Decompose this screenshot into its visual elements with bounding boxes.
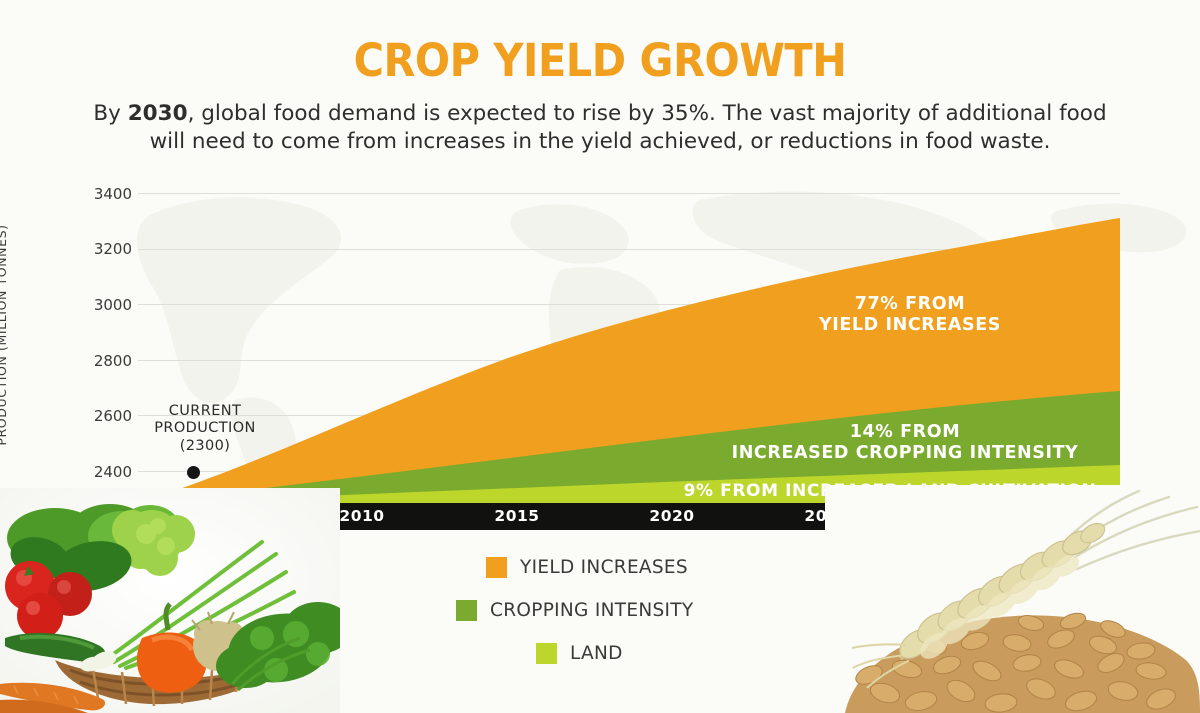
band-label-yield-line1: 77% FROM: [700, 294, 1120, 315]
legend-swatch-cropping-intensity: [456, 600, 477, 621]
y-axis-title: PRODUCTION (MILLION TONNES): [0, 0, 9, 185]
legend-label-cropping-intensity: CROPPING INTENSITY: [490, 600, 693, 621]
band-label-yield-line2: YIELD INCREASES: [700, 315, 1120, 336]
y-tick-3000: 3000: [72, 296, 132, 314]
annotation-line-1: CURRENT: [140, 403, 270, 420]
band-label-cropping-line1: 14% FROM: [690, 422, 1120, 443]
y-tick-2800: 2800: [72, 352, 132, 370]
band-label-land-line1: 9% FROM INCREASED LAND CULTIVATION: [660, 481, 1120, 501]
legend-swatch-land: [536, 643, 557, 664]
x-axis-bar: 2005 2010 2015 2020 2025 2030: [130, 503, 1120, 530]
current-production-annotation: CURRENT PRODUCTION (2300): [140, 403, 270, 455]
y-tick-3200: 3200: [72, 240, 132, 258]
y-tick-2600: 2600: [72, 407, 132, 425]
x-tick-2005: 2005: [167, 507, 247, 525]
legend-label-yield-increases: YIELD INCREASES: [520, 557, 688, 578]
band-label-cropping-line2: INCREASED CROPPING INTENSITY: [690, 443, 1120, 464]
annotation-line-3: (2300): [140, 438, 270, 455]
band-label-yield: 77% FROM YIELD INCREASES: [700, 294, 1120, 336]
legend-label-land: LAND: [570, 643, 623, 664]
legend-swatch-yield-increases: [486, 557, 507, 578]
x-tick-2015: 2015: [477, 507, 557, 525]
current-production-marker-dot: [187, 466, 200, 479]
x-tick-2030: 2030: [942, 507, 1022, 525]
y-tick-2400: 2400: [72, 463, 132, 481]
legend: YIELD INCREASES CROPPING INTENSITY LAND: [430, 556, 780, 685]
y-tick-3400: 3400: [72, 185, 132, 203]
legend-item-land[interactable]: LAND: [536, 642, 780, 664]
legend-item-cropping-intensity[interactable]: CROPPING INTENSITY: [456, 599, 780, 621]
x-tick-2020: 2020: [632, 507, 712, 525]
annotation-line-2: PRODUCTION: [140, 420, 270, 437]
x-tick-2025: 2025: [787, 507, 867, 525]
band-label-cropping: 14% FROM INCREASED CROPPING INTENSITY: [690, 422, 1120, 464]
band-label-land: 9% FROM INCREASED LAND CULTIVATION: [660, 481, 1120, 501]
legend-item-yield-increases[interactable]: YIELD INCREASES: [486, 556, 780, 578]
x-tick-2010: 2010: [322, 507, 402, 525]
